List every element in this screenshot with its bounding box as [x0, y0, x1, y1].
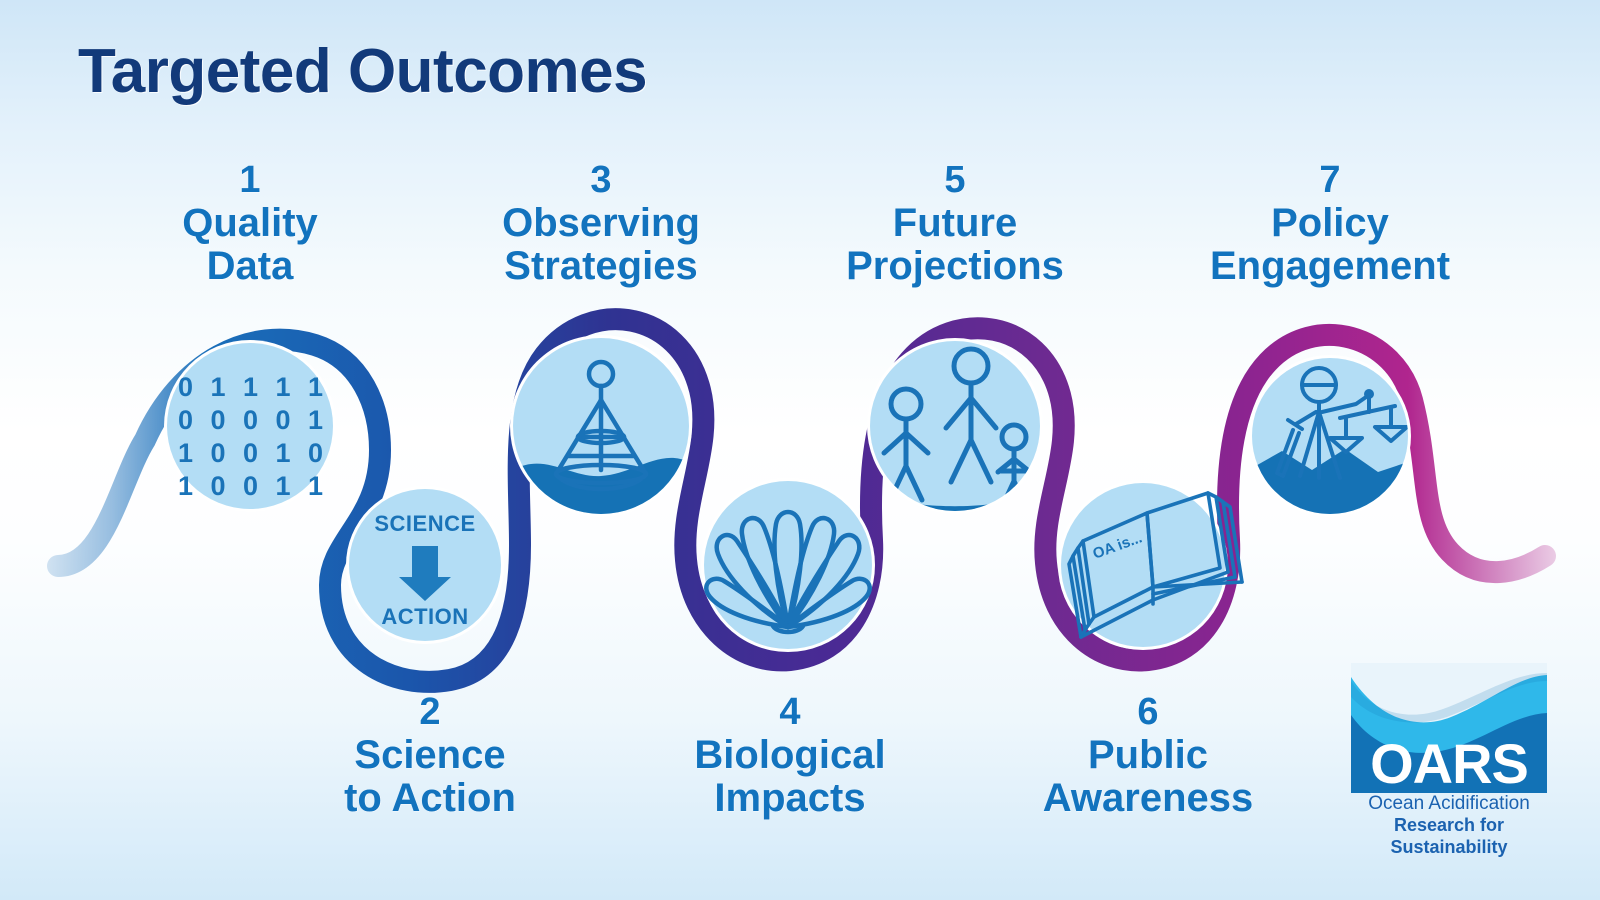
node-circle-1[interactable]: 0 1 1 1 1 0 0 0 0 1 1 0 0 1 0 1 0 0 1 1: [164, 340, 336, 512]
node-circle-7[interactable]: [1249, 355, 1411, 517]
binary-row: 1 0 0 1 1: [178, 471, 328, 501]
action-label: ACTION: [381, 604, 468, 629]
oars-tagline-line2: Research for Sustainability: [1340, 815, 1558, 857]
science-label: SCIENCE: [374, 511, 475, 536]
infographic-canvas: Targeted Outcomes: [0, 0, 1600, 900]
binary-row: 0 1 1 1 1: [178, 372, 328, 402]
binary-row: 1 0 0 1 0: [178, 438, 328, 468]
node-circle-3[interactable]: [510, 335, 692, 517]
binary-row: 0 0 0 0 1: [178, 405, 328, 435]
oars-wordmark: OARS: [1370, 732, 1528, 793]
node-circle-4[interactable]: [701, 478, 875, 652]
node-circle-2[interactable]: SCIENCE ACTION: [346, 486, 504, 644]
oars-logo[interactable]: OARS Ocean Acidification Research for Su…: [1340, 663, 1558, 851]
oars-tagline-line1: Ocean Acidification: [1340, 793, 1558, 815]
node-circle-5[interactable]: [867, 338, 1043, 516]
oars-tagline: Ocean Acidification Research for Sustain…: [1340, 793, 1558, 858]
oars-logo-mark: OARS: [1351, 663, 1547, 793]
